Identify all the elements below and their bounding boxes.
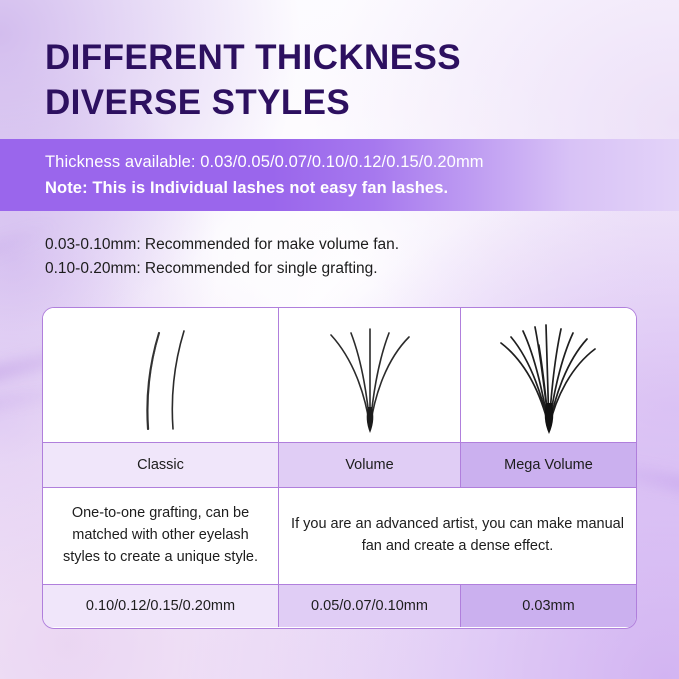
thickness-value-mega-volume: 0.03mm [461,585,636,627]
table-row-descriptions: One-to-one grafting, can be matched with… [43,488,636,585]
mega-volume-illustration-cell [461,308,636,442]
description-cell-classic: One-to-one grafting, can be matched with… [43,488,279,584]
style-name-classic: Classic [43,443,279,487]
page-title: DIFFERENT THICKNESS DIVERSE STYLES [45,36,645,126]
thickness-value-volume: 0.05/0.07/0.10mm [279,585,461,627]
banner-note-text: Note: This is Individual lashes not easy… [45,177,679,200]
table-row-thickness-values: 0.10/0.12/0.15/0.20mm 0.05/0.07/0.10mm 0… [43,585,636,627]
style-name-mega-volume: Mega Volume [461,443,636,487]
lash-style-comparison-table: Classic Volume Mega Volume One-to-one gr… [42,307,637,629]
recommendation-line-1: 0.03-0.10mm: Recommended for make volume… [45,233,645,257]
thickness-available-text: Thickness available: 0.03/0.05/0.07/0.10… [45,151,679,174]
page-title-line-2: DIVERSE STYLES [45,81,645,126]
product-infographic: DIFFERENT THICKNESS DIVERSE STYLES Thick… [0,0,679,679]
description-cell-volume-mega: If you are an advanced artist, you can m… [279,488,636,584]
classic-illustration-cell [43,308,279,442]
style-name-volume: Volume [279,443,461,487]
recommendation-line-2: 0.10-0.20mm: Recommended for single graf… [45,257,645,281]
table-row-illustrations [43,308,636,443]
volume-fan-icon [315,315,425,435]
page-title-line-1: DIFFERENT THICKNESS [45,36,645,81]
thickness-banner: Thickness available: 0.03/0.05/0.07/0.10… [0,139,679,211]
thickness-value-classic: 0.10/0.12/0.15/0.20mm [43,585,279,627]
volume-illustration-cell [279,308,461,442]
volume-mega-description-text: If you are an advanced artist, you can m… [289,514,626,558]
mega-volume-fan-icon [489,315,609,435]
table-row-style-names: Classic Volume Mega Volume [43,443,636,488]
classic-lash-icon [116,315,206,435]
recommendation-block: 0.03-0.10mm: Recommended for make volume… [45,233,645,280]
classic-description-text: One-to-one grafting, can be matched with… [53,503,268,568]
